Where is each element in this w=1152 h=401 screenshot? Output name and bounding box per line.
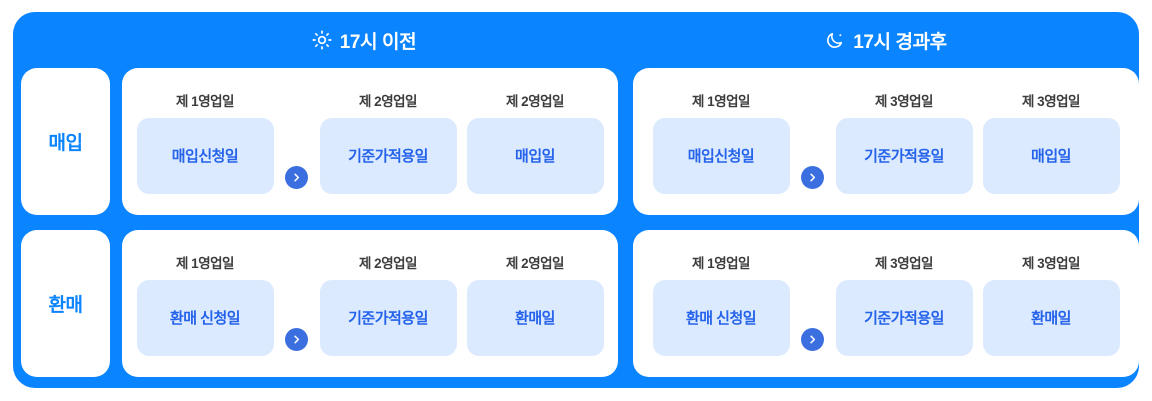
step-item: 제 3영업일 기준가적용일 bbox=[836, 90, 973, 194]
step-caption: 제 2영업일 bbox=[359, 252, 417, 272]
step-caption: 제 1영업일 bbox=[176, 252, 234, 272]
step-caption: 제 1영업일 bbox=[692, 90, 750, 110]
step-caption: 제 2영업일 bbox=[506, 252, 564, 272]
board-body: 매입 제 1영업일 매입신청일 bbox=[13, 68, 1139, 388]
header-label-after-17: 17시 경과후 bbox=[853, 27, 947, 54]
row-purchase: 매입 제 1영업일 매입신청일 bbox=[13, 68, 1139, 215]
step-caption: 제 1영업일 bbox=[176, 90, 234, 110]
step-connector bbox=[790, 301, 836, 377]
header-column-after-17: 17시 경과후 bbox=[633, 12, 1139, 68]
panel-purchase-after-17: 제 1영업일 매입신청일 제 3영업일 기준가적용일 bbox=[633, 68, 1139, 215]
row-label-redemption: 환매 bbox=[49, 290, 83, 317]
panel-redemption-before-17: 제 1영업일 환매 신청일 제 2영업일 기준가적용일 bbox=[122, 230, 618, 377]
step-box: 환매일 bbox=[467, 280, 604, 356]
step-connector bbox=[790, 139, 836, 215]
sun-icon bbox=[312, 30, 332, 50]
step-connector bbox=[274, 301, 320, 377]
row-label-purchase: 매입 bbox=[49, 128, 83, 155]
chevron-right-icon bbox=[801, 328, 824, 351]
step-gap bbox=[973, 266, 983, 342]
step-caption: 제 2영업일 bbox=[506, 90, 564, 110]
panel-purchase-before-17: 제 1영업일 매입신청일 제 2영업일 기준가적용일 bbox=[122, 68, 618, 215]
row-redemption: 환매 제 1영업일 환매 신청일 bbox=[13, 230, 1139, 377]
step-item: 제 2영업일 기준가적용일 bbox=[320, 90, 457, 194]
chevron-right-icon bbox=[801, 166, 824, 189]
chevron-right-icon bbox=[285, 328, 308, 351]
moon-icon bbox=[825, 30, 845, 50]
row-label-card-purchase: 매입 bbox=[21, 68, 110, 215]
step-box: 기준가적용일 bbox=[836, 280, 973, 356]
step-box: 환매 신청일 bbox=[653, 280, 790, 356]
step-gap bbox=[457, 266, 467, 342]
step-item: 제 2영업일 매입일 bbox=[467, 90, 604, 194]
fund-schedule-board: 17시 이전 17시 경과후 매입 제 1영업일 매 bbox=[13, 12, 1139, 388]
step-box: 매입신청일 bbox=[653, 118, 790, 194]
board-header: 17시 이전 17시 경과후 bbox=[13, 12, 1139, 68]
step-caption: 제 1영업일 bbox=[692, 252, 750, 272]
step-box: 환매일 bbox=[983, 280, 1120, 356]
step-box: 매입일 bbox=[467, 118, 604, 194]
step-connector bbox=[274, 139, 320, 215]
step-item: 제 2영업일 환매일 bbox=[467, 252, 604, 356]
step-caption: 제 3영업일 bbox=[1022, 252, 1080, 272]
chevron-right-icon bbox=[285, 166, 308, 189]
step-caption: 제 3영업일 bbox=[875, 252, 933, 272]
step-item: 제 3영업일 환매일 bbox=[983, 252, 1120, 356]
step-item: 제 1영업일 환매 신청일 bbox=[653, 252, 790, 356]
step-item: 제 1영업일 매입신청일 bbox=[653, 90, 790, 194]
step-caption: 제 3영업일 bbox=[1022, 90, 1080, 110]
header-column-before-17: 17시 이전 bbox=[110, 12, 618, 68]
step-box: 기준가적용일 bbox=[320, 118, 457, 194]
step-item: 제 1영업일 매입신청일 bbox=[137, 90, 274, 194]
step-item: 제 1영업일 환매 신청일 bbox=[137, 252, 274, 356]
step-gap bbox=[457, 104, 467, 180]
step-box: 기준가적용일 bbox=[836, 118, 973, 194]
step-flow: 제 1영업일 환매 신청일 제 2영업일 기준가적용일 bbox=[122, 230, 618, 377]
step-item: 제 3영업일 기준가적용일 bbox=[836, 252, 973, 356]
step-flow: 제 1영업일 매입신청일 제 2영업일 기준가적용일 bbox=[122, 68, 618, 215]
step-box: 매입신청일 bbox=[137, 118, 274, 194]
step-box: 기준가적용일 bbox=[320, 280, 457, 356]
step-box: 매입일 bbox=[983, 118, 1120, 194]
step-gap bbox=[973, 104, 983, 180]
header-label-before-17: 17시 이전 bbox=[340, 27, 416, 54]
step-flow: 제 1영업일 환매 신청일 제 3영업일 기준가적용일 bbox=[633, 230, 1139, 377]
row-label-card-redemption: 환매 bbox=[21, 230, 110, 377]
step-flow: 제 1영업일 매입신청일 제 3영업일 기준가적용일 bbox=[633, 68, 1139, 215]
step-caption: 제 2영업일 bbox=[359, 90, 417, 110]
step-item: 제 3영업일 매입일 bbox=[983, 90, 1120, 194]
step-caption: 제 3영업일 bbox=[875, 90, 933, 110]
step-item: 제 2영업일 기준가적용일 bbox=[320, 252, 457, 356]
panel-redemption-after-17: 제 1영업일 환매 신청일 제 3영업일 기준가적용일 bbox=[633, 230, 1139, 377]
step-box: 환매 신청일 bbox=[137, 280, 274, 356]
